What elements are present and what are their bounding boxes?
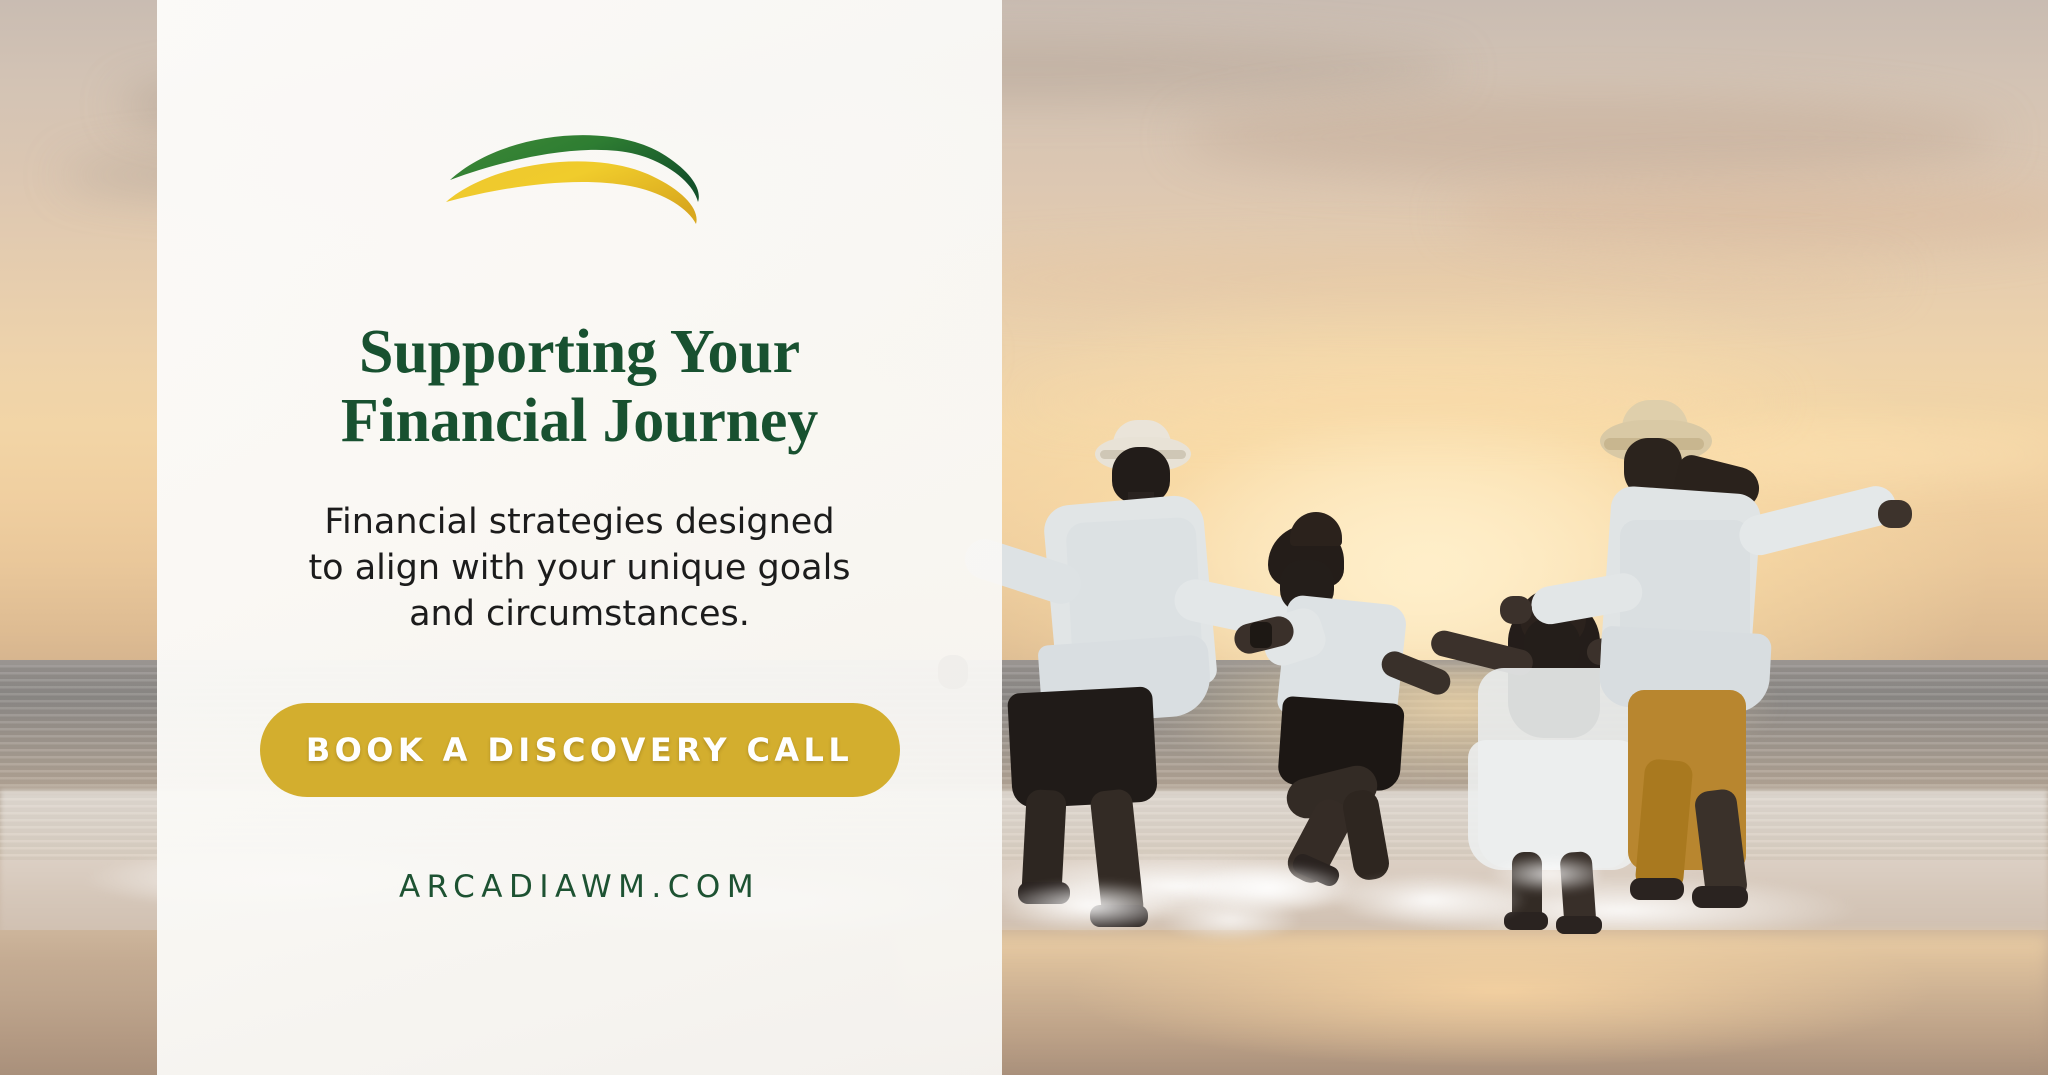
headline-line-2: Financial Journey [341,387,818,456]
page-title: Supporting Your Financial Journey [341,318,818,457]
water-splash [980,850,1300,960]
subcopy-line-1: Financial strategies designed [308,499,850,545]
arcadia-swoosh-logo [444,128,716,236]
subheading-copy: Financial strategies designed to align w… [308,499,850,638]
headline-line-1: Supporting Your [341,318,818,387]
content-panel: Supporting Your Financial Journey Financ… [157,0,1002,1075]
subcopy-line-2: to align with your unique goals [308,545,850,591]
book-discovery-call-button[interactable]: BOOK A DISCOVERY CALL [260,703,900,797]
subcopy-line-3: and circumstances. [308,591,850,637]
website-url[interactable]: ARCADIAWM.COM [399,869,760,905]
marketing-banner: Supporting Your Financial Journey Financ… [0,0,2048,1075]
